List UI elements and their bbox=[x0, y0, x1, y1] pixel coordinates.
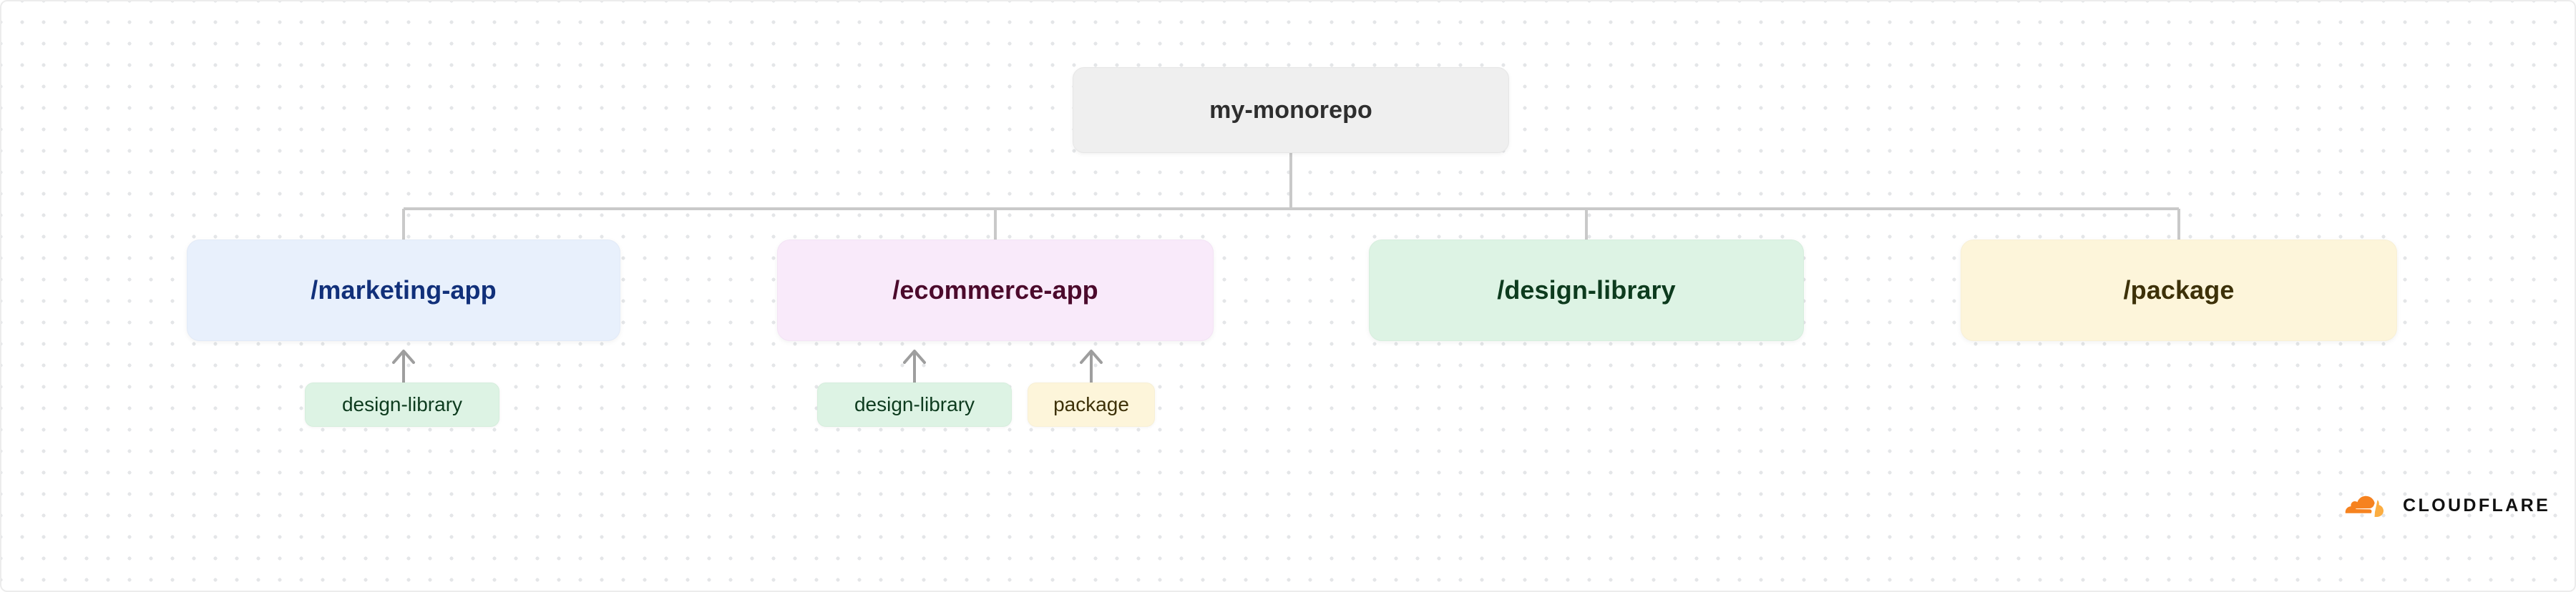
cloudflare-cloud-icon bbox=[2343, 493, 2394, 518]
dep-arrow-marketing-design-head bbox=[394, 351, 414, 362]
cloudflare-logo: CLOUDFLARE bbox=[2343, 493, 2550, 518]
dep-arrow-ecommerce-package-head bbox=[1081, 351, 1101, 362]
dependency-tag-label: design-library bbox=[854, 393, 975, 416]
node-root-label: my-monorepo bbox=[1209, 97, 1372, 124]
node-package[interactable]: /package bbox=[1961, 240, 2397, 341]
dep-arrow-ecommerce-design-head bbox=[904, 351, 924, 362]
node-ecommerce-app[interactable]: /ecommerce-app bbox=[777, 240, 1214, 341]
cloudflare-wordmark: CLOUDFLARE bbox=[2403, 497, 2550, 515]
node-design-library[interactable]: /design-library bbox=[1369, 240, 1804, 341]
node-design-library-label: /design-library bbox=[1497, 275, 1676, 305]
dependency-tag-label: package bbox=[1053, 393, 1129, 416]
node-ecommerce-app-label: /ecommerce-app bbox=[892, 275, 1098, 305]
dependency-tag-ecommerce-package[interactable]: package bbox=[1028, 383, 1155, 427]
node-marketing-app[interactable]: /marketing-app bbox=[187, 240, 620, 341]
diagram-canvas: my-monorepo /marketing-app /ecommerce-ap… bbox=[0, 0, 2576, 592]
dependency-tag-marketing-design-library[interactable]: design-library bbox=[305, 383, 499, 427]
node-package-label: /package bbox=[2124, 275, 2235, 305]
node-marketing-app-label: /marketing-app bbox=[311, 275, 496, 305]
dependency-tag-label: design-library bbox=[342, 393, 462, 416]
dependency-tag-ecommerce-design-library[interactable]: design-library bbox=[817, 383, 1012, 427]
node-root[interactable]: my-monorepo bbox=[1073, 67, 1509, 153]
